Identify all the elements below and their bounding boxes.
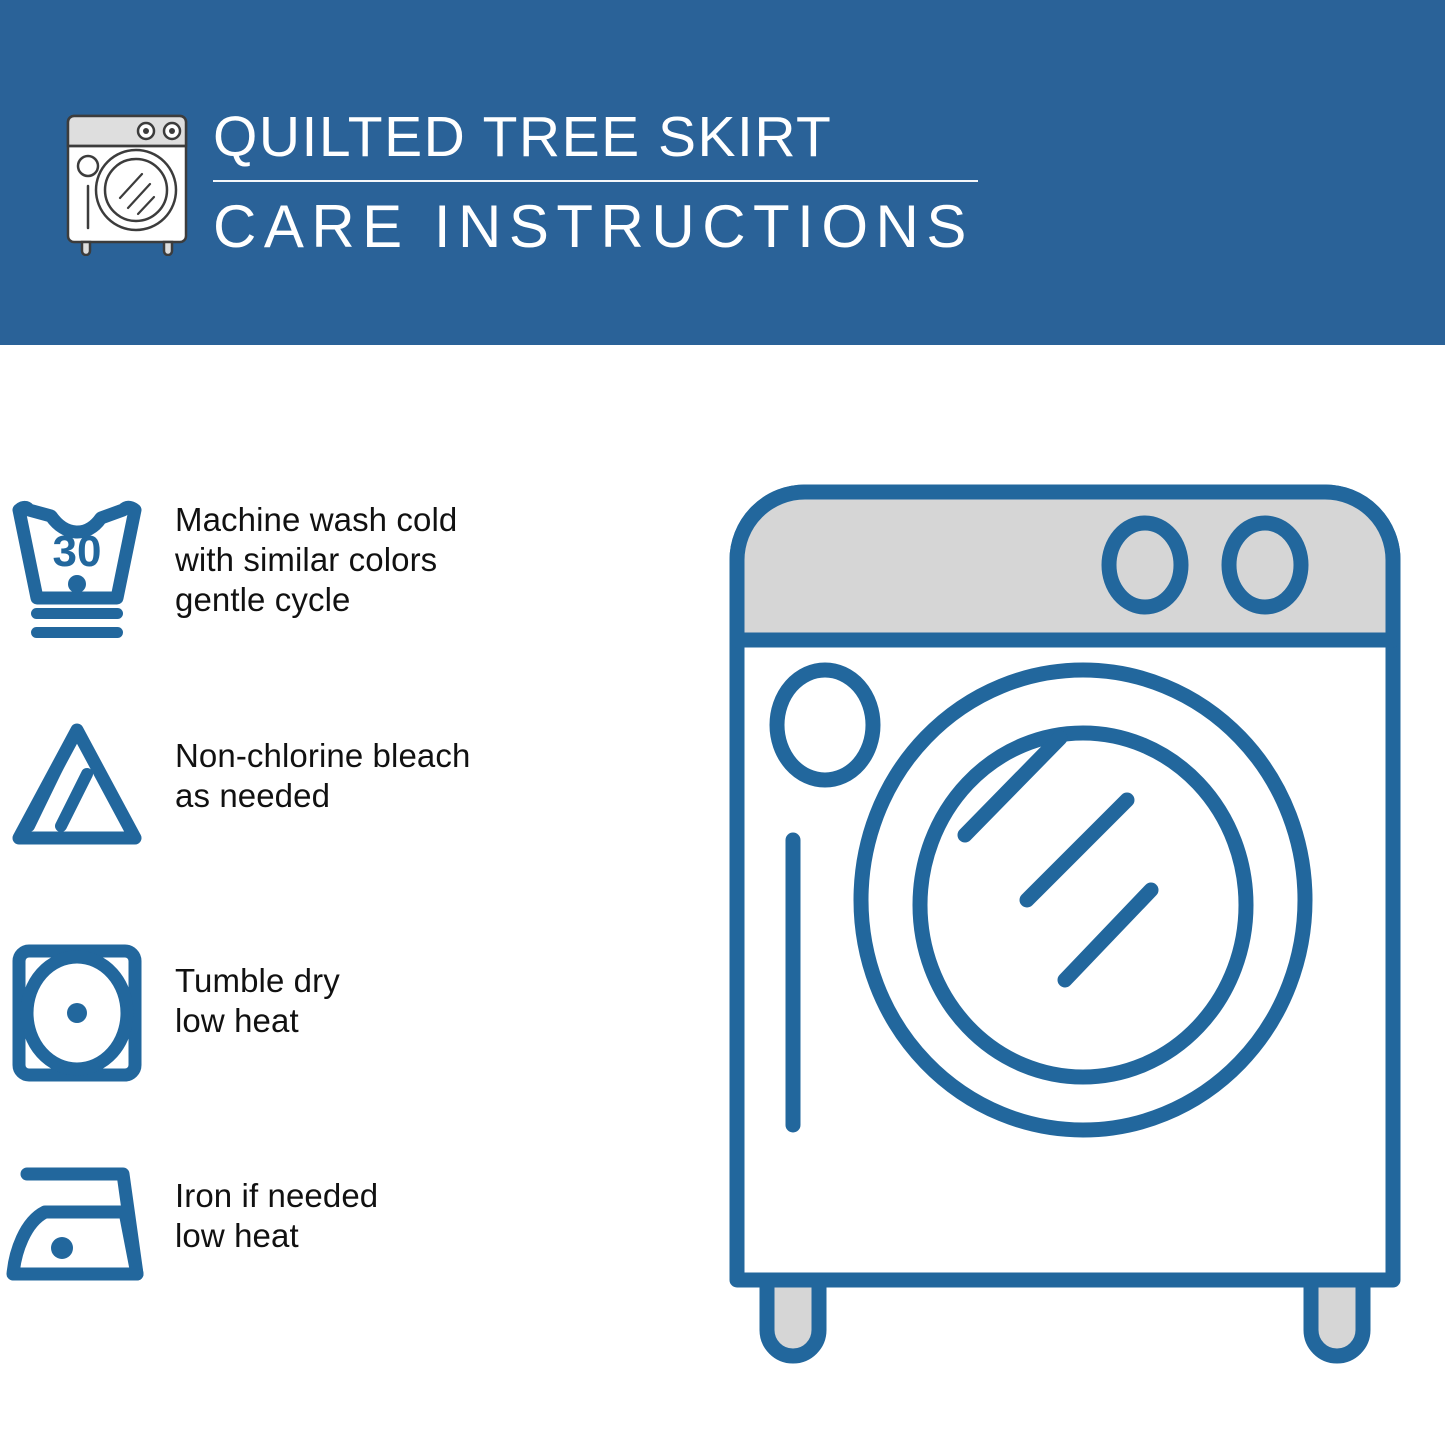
care-text: Machine wash cold with similar colors ge… [175,490,457,620]
care-row: 30 Machine wash cold with similar colors… [0,490,700,650]
care-text-line: low heat [175,1001,340,1041]
care-text: Tumble dry low heat [175,935,340,1041]
care-text-line: as needed [175,776,470,816]
care-text-line: with similar colors [175,540,457,580]
care-text-line: Non-chlorine bleach [175,736,470,776]
bleach-triangle-icon [0,710,175,870]
svg-text:30: 30 [53,527,102,576]
care-row: Non-chlorine bleach as needed [0,710,700,870]
care-text-line: low heat [175,1216,378,1256]
care-row: Iron if needed low heat [0,1150,700,1310]
tumble-dry-icon [0,935,175,1095]
care-text-line: Machine wash cold [175,500,457,540]
washing-machine-illustration [715,470,1415,1370]
care-text-line: Tumble dry [175,961,340,1001]
wash-tub-30-icon: 30 [0,490,175,650]
page-subtitle: CARE INSTRUCTIONS [213,192,1003,262]
care-instruction-list: 30 Machine wash cold with similar colors… [0,345,700,1445]
care-instructions-infographic: QUILTED TREE SKIRT CARE INSTRUCTIONS 30 [0,0,1445,1445]
title-divider [213,180,978,182]
care-row: Tumble dry low heat [0,935,700,1095]
washing-machine-icon [62,98,194,256]
care-text: Non-chlorine bleach as needed [175,710,470,816]
iron-icon [0,1150,175,1310]
care-text-line: Iron if needed [175,1176,378,1216]
header-title-group: QUILTED TREE SKIRT CARE INSTRUCTIONS [213,104,1003,262]
care-text-line: gentle cycle [175,580,457,620]
page-title: QUILTED TREE SKIRT [213,104,1003,170]
care-text: Iron if needed low heat [175,1150,378,1256]
header-band: QUILTED TREE SKIRT CARE INSTRUCTIONS [0,0,1445,345]
